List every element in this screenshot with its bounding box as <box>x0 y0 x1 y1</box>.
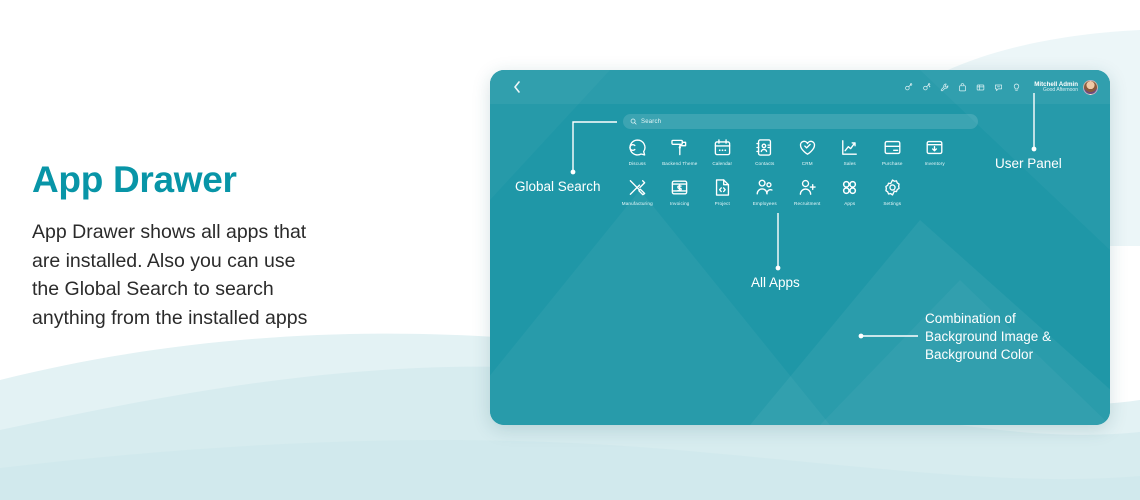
callout-background: Combination of Background Image & Backgr… <box>925 310 1051 364</box>
callout-all-apps: All Apps <box>751 274 800 292</box>
callout-text: Combination of Background Image & Backgr… <box>925 310 1051 364</box>
callout-user-panel: User Panel <box>995 155 1062 173</box>
callout-text: User Panel <box>995 155 1062 173</box>
callout-text: Global Search <box>515 178 601 196</box>
callout-global-search: Global Search <box>515 178 601 196</box>
callout-leader-lines <box>0 0 1140 500</box>
callout-text: All Apps <box>751 274 800 292</box>
